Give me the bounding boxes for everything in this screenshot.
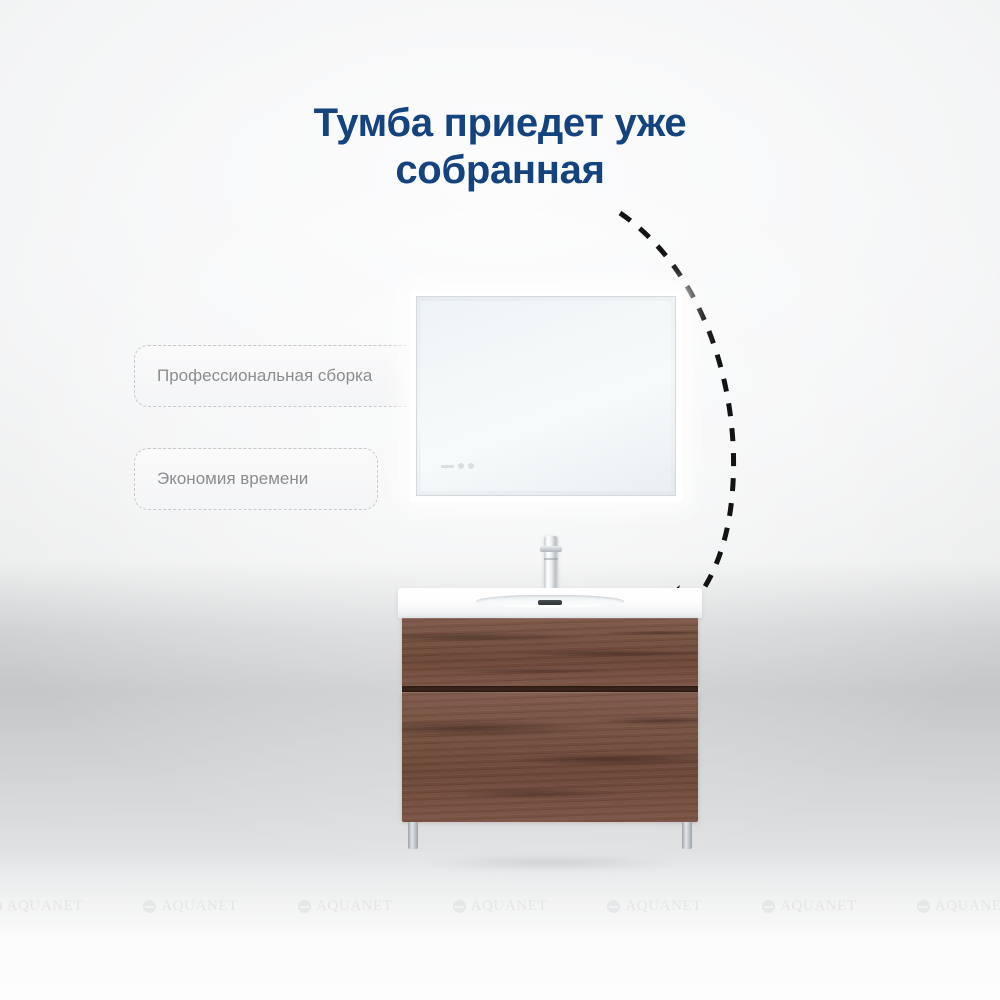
watermark: AQUANET	[917, 898, 1000, 915]
mirror-touch-controls[interactable]	[441, 463, 474, 469]
watermark: AQUANET	[0, 898, 83, 915]
aquanet-logo-icon	[0, 900, 2, 913]
mirror-touch-bar-icon[interactable]	[441, 465, 454, 468]
cabinet-drawer-bottom[interactable]	[402, 692, 698, 822]
washbasin-drain	[538, 600, 562, 605]
watermark-label: AQUANET	[161, 898, 238, 915]
headline-line-1: Тумба приедет уже	[314, 101, 687, 145]
aquanet-logo-icon	[762, 900, 775, 913]
mirror-touch-dot-icon-2[interactable]	[468, 463, 474, 469]
watermark-label: AQUANET	[316, 898, 393, 915]
watermark-label: AQUANET	[7, 898, 84, 915]
cabinet-drawer-top[interactable]	[402, 618, 698, 686]
faucet-body	[544, 536, 558, 590]
watermark-label: AQUANET	[625, 898, 702, 915]
chrome-faucet	[538, 536, 564, 590]
feature-badge-time-saving-label: Экономия времени	[157, 469, 308, 489]
aquanet-logo-icon	[298, 900, 311, 913]
watermark-label: AQUANET	[935, 898, 1000, 915]
product-promo-image: Тумба приедет уже собранная Профессионал…	[0, 0, 1000, 1000]
cabinet-leg-left	[408, 822, 418, 849]
watermark: AQUANET	[607, 898, 702, 915]
faucet-seam	[544, 558, 558, 560]
bottom-fade-overlay	[0, 850, 1000, 1000]
ceramic-washbasin	[398, 588, 702, 618]
watermark: AQUANET	[453, 898, 548, 915]
feature-badge-assembly-label: Профессиональная сборка	[157, 366, 372, 386]
mirror-frame-inner	[416, 296, 676, 496]
headline: Тумба приедет уже собранная	[0, 100, 1000, 194]
watermark-row: AQUANETAQUANETAQUANETAQUANETAQUANETAQUAN…	[0, 898, 1000, 915]
watermark: AQUANET	[298, 898, 393, 915]
watermark-label: AQUANET	[471, 898, 548, 915]
watermark: AQUANET	[762, 898, 857, 915]
headline-line-2: собранная	[0, 147, 1000, 194]
vanity-unit	[398, 588, 702, 863]
mirror-touch-dot-icon-1[interactable]	[458, 463, 464, 469]
aquanet-logo-icon	[143, 900, 156, 913]
led-backlit-mirror	[410, 291, 682, 502]
feature-badge-time-saving: Экономия времени	[134, 448, 378, 510]
watermark: AQUANET	[143, 898, 238, 915]
watermark-label: AQUANET	[780, 898, 857, 915]
aquanet-logo-icon	[453, 900, 466, 913]
faucet-lever	[540, 546, 562, 552]
aquanet-logo-icon	[607, 900, 620, 913]
aquanet-logo-icon	[917, 900, 930, 913]
cabinet-leg-right	[682, 822, 692, 849]
